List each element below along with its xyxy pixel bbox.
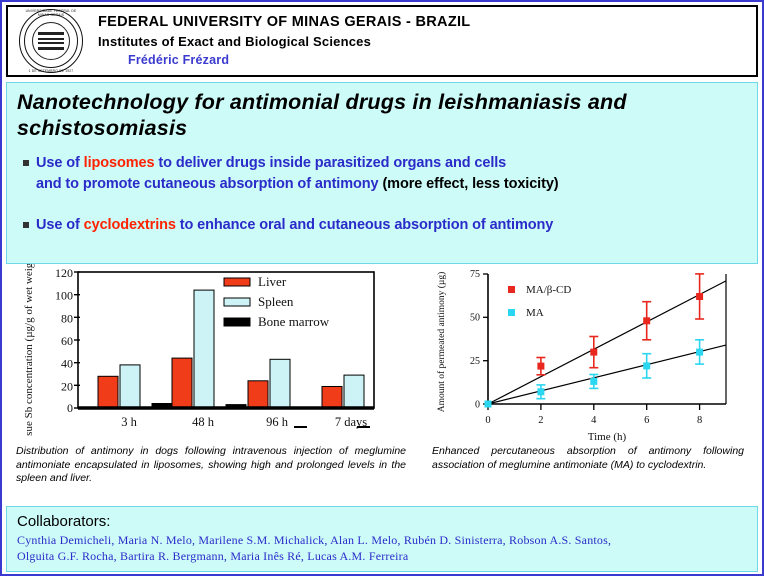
errorbars-ma xyxy=(536,340,704,399)
seal-building-icon xyxy=(38,32,64,50)
bar-spleen-96h xyxy=(270,359,290,408)
point-ma-cd-4h xyxy=(590,349,597,356)
bar-chart-svg: Tissue Sb concentration (µg/g of wet wei… xyxy=(12,264,390,436)
bullet-text: Use of cyclodextrins to enhance oral and… xyxy=(36,215,553,236)
legend-label-bonemarrow: Bone marrow xyxy=(258,314,330,329)
svg-text:75: 75 xyxy=(470,269,480,280)
bullet-1-highlight: liposomes xyxy=(84,155,155,171)
svg-text:60: 60 xyxy=(61,334,73,348)
svg-text:20: 20 xyxy=(61,379,73,393)
slide-root: UNIVERSIDADE FEDERAL DE MINAS GERAIS 1 D… xyxy=(0,0,764,576)
scatter-xtick-labels: 0 2 4 6 8 xyxy=(485,415,702,426)
bullet-list: Use of liposomes to deliver drugs inside… xyxy=(17,153,747,236)
bullet-1-suffix: to enhance oral and cutaneous absorption… xyxy=(176,217,553,233)
point-ma-cd-2h xyxy=(537,363,544,370)
point-ma-cd-8h xyxy=(696,293,703,300)
bullet-2-black: (more effect, less toxicity) xyxy=(382,176,558,192)
points-ma-cd xyxy=(537,293,703,370)
seal-bottom-text: 1 DE SETEMBRO DE 1927 xyxy=(20,69,82,73)
title-line-2: schistosomiasis xyxy=(17,115,747,141)
xtick-3h: 3 h xyxy=(121,415,137,429)
point-ma-cd-6h xyxy=(643,317,650,324)
fit-line-ma xyxy=(488,345,726,404)
legend-label-ma: MA xyxy=(526,307,544,319)
bullet-line-2: and to promote cutaneous absorption of a… xyxy=(36,174,559,195)
bar-chart-figure: Tissue Sb concentration (µg/g of wet wei… xyxy=(12,264,390,441)
point-ma-2h xyxy=(537,388,544,395)
collaborators-line-2: Olguita G.F. Rocha, Bartira R. Bergmann,… xyxy=(17,548,747,564)
content-panel: Nanotechnology for antimonial drugs in l… xyxy=(6,82,758,264)
title-line-1: Nanotechnology for antimonial drugs in l… xyxy=(17,90,627,114)
legend-swatch-spleen xyxy=(224,298,250,306)
svg-text:0: 0 xyxy=(67,401,73,415)
legend-label-spleen: Spleen xyxy=(258,294,294,309)
bar-chart-ylabel: Tissue Sb concentration (µg/g of wet wei… xyxy=(23,264,35,436)
ufmg-seal-icon: UNIVERSIDADE FEDERAL DE MINAS GERAIS 1 D… xyxy=(19,9,83,73)
svg-text:4: 4 xyxy=(591,415,597,426)
legend-label-liver: Liver xyxy=(258,274,287,289)
bar-liver-7days xyxy=(322,387,342,409)
bullet-text: Use of liposomes to deliver drugs inside… xyxy=(36,153,559,195)
xtick-48h: 48 h xyxy=(192,415,215,429)
scatter-xtick-marks xyxy=(488,404,700,410)
bullet-2-prefix: and to promote cutaneous absorption of a… xyxy=(36,176,382,192)
point-origin xyxy=(485,401,492,408)
svg-text:0: 0 xyxy=(485,415,490,426)
svg-text:80: 80 xyxy=(61,311,73,325)
bullet-line-1: Use of liposomes to deliver drugs inside… xyxy=(36,153,559,174)
scatter-chart-svg: Amount of permeated antimony (µg) 75 50 … xyxy=(426,264,756,444)
scatter-chart-figure: Amount of permeated antimony (µg) 75 50 … xyxy=(426,264,756,449)
bar-spleen-48h xyxy=(194,290,214,408)
figure-caption-left: Distribution of antimony in dogs followi… xyxy=(16,445,406,486)
bar-spleen-3h xyxy=(120,365,140,408)
legend-label-ma-cd: MA/β-CD xyxy=(526,284,571,296)
legend-swatch-bonemarrow xyxy=(224,318,250,326)
legend-swatch-liver xyxy=(224,278,250,286)
point-ma-6h xyxy=(643,362,650,369)
bullet-square-icon xyxy=(23,160,29,166)
svg-text:8: 8 xyxy=(697,415,702,426)
scatter-ytick-labels: 75 50 25 0 xyxy=(470,269,480,411)
svg-text:40: 40 xyxy=(61,357,73,371)
legend-swatch-ma xyxy=(508,309,515,316)
svg-text:120: 120 xyxy=(55,266,73,280)
scatter-chart-legend: MA/β-CD MA xyxy=(508,284,571,319)
bullet-1-suffix: to deliver drugs inside parasitized orga… xyxy=(154,155,506,171)
bullet-item-cyclodextrins: Use of cyclodextrins to enhance oral and… xyxy=(17,215,747,236)
collaborators-line-1: Cynthia Demicheli, Maria N. Melo, Marile… xyxy=(17,532,747,548)
collaborators-heading: Collaborators: xyxy=(17,512,747,532)
svg-text:0: 0 xyxy=(475,400,480,411)
xtick-96h: 96 h xyxy=(266,415,289,429)
bullet-1-highlight: cyclodextrins xyxy=(84,217,176,233)
fit-line-ma-cd xyxy=(488,281,726,404)
header-text-block: FEDERAL UNIVERSITY OF MINAS GERAIS - BRA… xyxy=(94,13,756,70)
bullet-line-1: Use of cyclodextrins to enhance oral and… xyxy=(36,215,553,236)
institution-name: FEDERAL UNIVERSITY OF MINAS GERAIS - BRA… xyxy=(98,13,756,32)
author-name: Frédéric Frézard xyxy=(98,51,756,70)
bullet-1-prefix: Use of xyxy=(36,217,84,233)
bullet-item-liposomes: Use of liposomes to deliver drugs inside… xyxy=(17,153,747,195)
bar-liver-96h xyxy=(248,381,268,408)
legend-swatch-ma-cd xyxy=(508,286,515,293)
bullet-square-icon xyxy=(23,222,29,228)
svg-text:2: 2 xyxy=(538,415,543,426)
university-logo: UNIVERSIDADE FEDERAL DE MINAS GERAIS 1 D… xyxy=(8,7,94,75)
bullet-1-prefix: Use of xyxy=(36,155,84,171)
points-ma xyxy=(537,349,703,396)
seal-top-text: UNIVERSIDADE FEDERAL DE MINAS GERAIS xyxy=(20,9,82,17)
header-bar: UNIVERSIDADE FEDERAL DE MINAS GERAIS 1 D… xyxy=(6,5,758,77)
point-ma-4h xyxy=(590,378,597,385)
institution-subtitle: Institutes of Exact and Biological Scien… xyxy=(98,32,756,51)
bar-chart-xtick-labels: 3 h 48 h 96 h 7 days xyxy=(121,415,367,429)
bar-liver-48h xyxy=(172,358,192,408)
collaborators-panel: Collaborators: Cynthia Demicheli, Maria … xyxy=(6,506,758,572)
bar-chart-ytick-labels: 120 100 80 60 40 20 0 xyxy=(55,266,73,415)
svg-text:25: 25 xyxy=(470,356,480,367)
scatter-chart-xlabel: Time (h) xyxy=(588,431,627,443)
bar-liver-3h xyxy=(98,376,118,408)
svg-text:50: 50 xyxy=(470,313,480,324)
page-title: Nanotechnology for antimonial drugs in l… xyxy=(17,89,747,141)
seal-inner-ring xyxy=(32,22,70,60)
point-ma-8h xyxy=(696,349,703,356)
figure-caption-right: Enhanced percutaneous absorption of anti… xyxy=(432,445,744,472)
svg-text:100: 100 xyxy=(55,289,73,303)
scatter-chart-ylabel: Amount of permeated antimony (µg) xyxy=(436,272,447,413)
bar-spleen-7days xyxy=(344,375,364,408)
svg-text:6: 6 xyxy=(644,415,649,426)
